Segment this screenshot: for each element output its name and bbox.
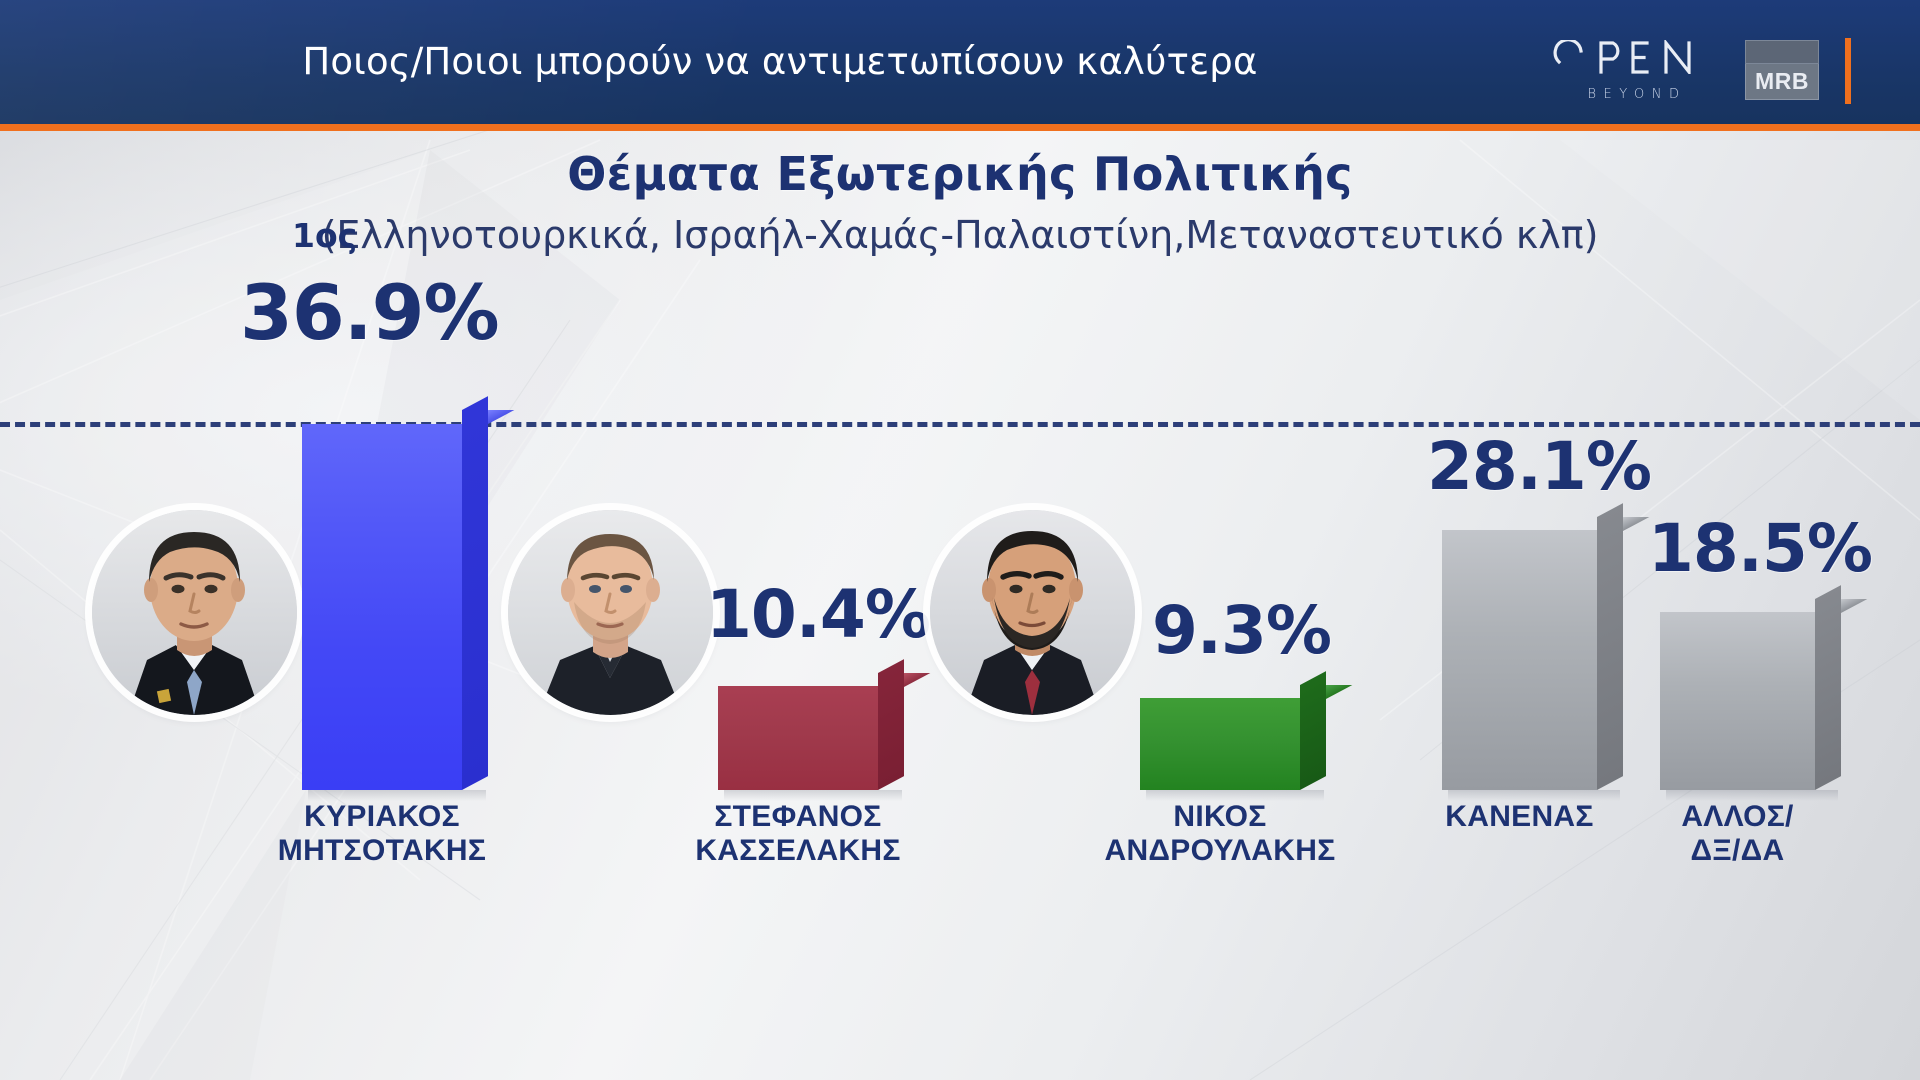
bar-5 [1660, 612, 1815, 790]
avatar-androulakis [930, 510, 1135, 715]
bar-5-front-face [1660, 612, 1815, 790]
bar-group-4: 28.1% ΚΑΝΕΝΑΣ [1442, 0, 1597, 1080]
bar-5-side-face [1815, 585, 1841, 790]
avatar-mitsotakis [92, 510, 297, 715]
value-label-3: 9.3% [1152, 592, 1331, 669]
bar-group-1: 36.9% ΚΥΡΙΑΚΟΣ ΜΗΤΣΟΤΑΚΗΣ [302, 0, 462, 1080]
avatar-kasselakis-image [508, 510, 713, 715]
avatar-mitsotakis-image [92, 510, 297, 715]
bar-3-side-face [1300, 671, 1326, 790]
bar-label-3: ΝΙΚΟΣ ΑΝΔΡΟΥΛΑΚΗΣ [1065, 800, 1375, 868]
reference-dashed-line [0, 422, 1920, 427]
avatar-androulakis-image [930, 510, 1135, 715]
bar-1-front-face [302, 424, 462, 790]
bar-label-1: ΚΥΡΙΑΚΟΣ ΜΗΤΣΟΤΑΚΗΣ [227, 800, 537, 868]
bar-label-5: ΑΛΛΟΣ/ ΔΞ/ΔΑ [1585, 800, 1890, 868]
bar-group-5: 18.5% ΑΛΛΟΣ/ ΔΞ/ΔΑ [1660, 0, 1815, 1080]
bar-3-front-face [1140, 698, 1300, 790]
bar-3 [1140, 698, 1300, 790]
bar-group-2: 10.4% ΣΤΕΦΑΝΟΣ ΚΑΣΣΕΛΑΚΗΣ [718, 0, 878, 1080]
bar-chart: 1ος [0, 0, 1920, 1080]
bar-4-front-face [1442, 530, 1597, 790]
bar-2-side-face [878, 659, 904, 790]
bar-1-side-face [462, 396, 488, 790]
value-label-4: 28.1% [1427, 428, 1651, 505]
bar-2 [718, 686, 878, 790]
poll-graphic: Ποιος/Ποιοι μπορούν να αντιμετωπίσουν κα… [0, 0, 1920, 1080]
bar-1 [302, 424, 462, 790]
bar-4-side-face [1597, 503, 1623, 790]
bar-group-3: 9.3% ΝΙΚΟΣ ΑΝΔΡΟΥΛΑΚΗΣ [1140, 0, 1300, 1080]
avatar-kasselakis [508, 510, 713, 715]
bar-4 [1442, 530, 1597, 790]
value-label-1: 36.9% [240, 268, 499, 357]
value-label-5: 18.5% [1648, 510, 1872, 587]
bar-2-front-face [718, 686, 878, 790]
bar-label-2: ΣΤΕΦΑΝΟΣ ΚΑΣΣΕΛΑΚΗΣ [643, 800, 953, 868]
value-label-2: 10.4% [706, 576, 930, 653]
